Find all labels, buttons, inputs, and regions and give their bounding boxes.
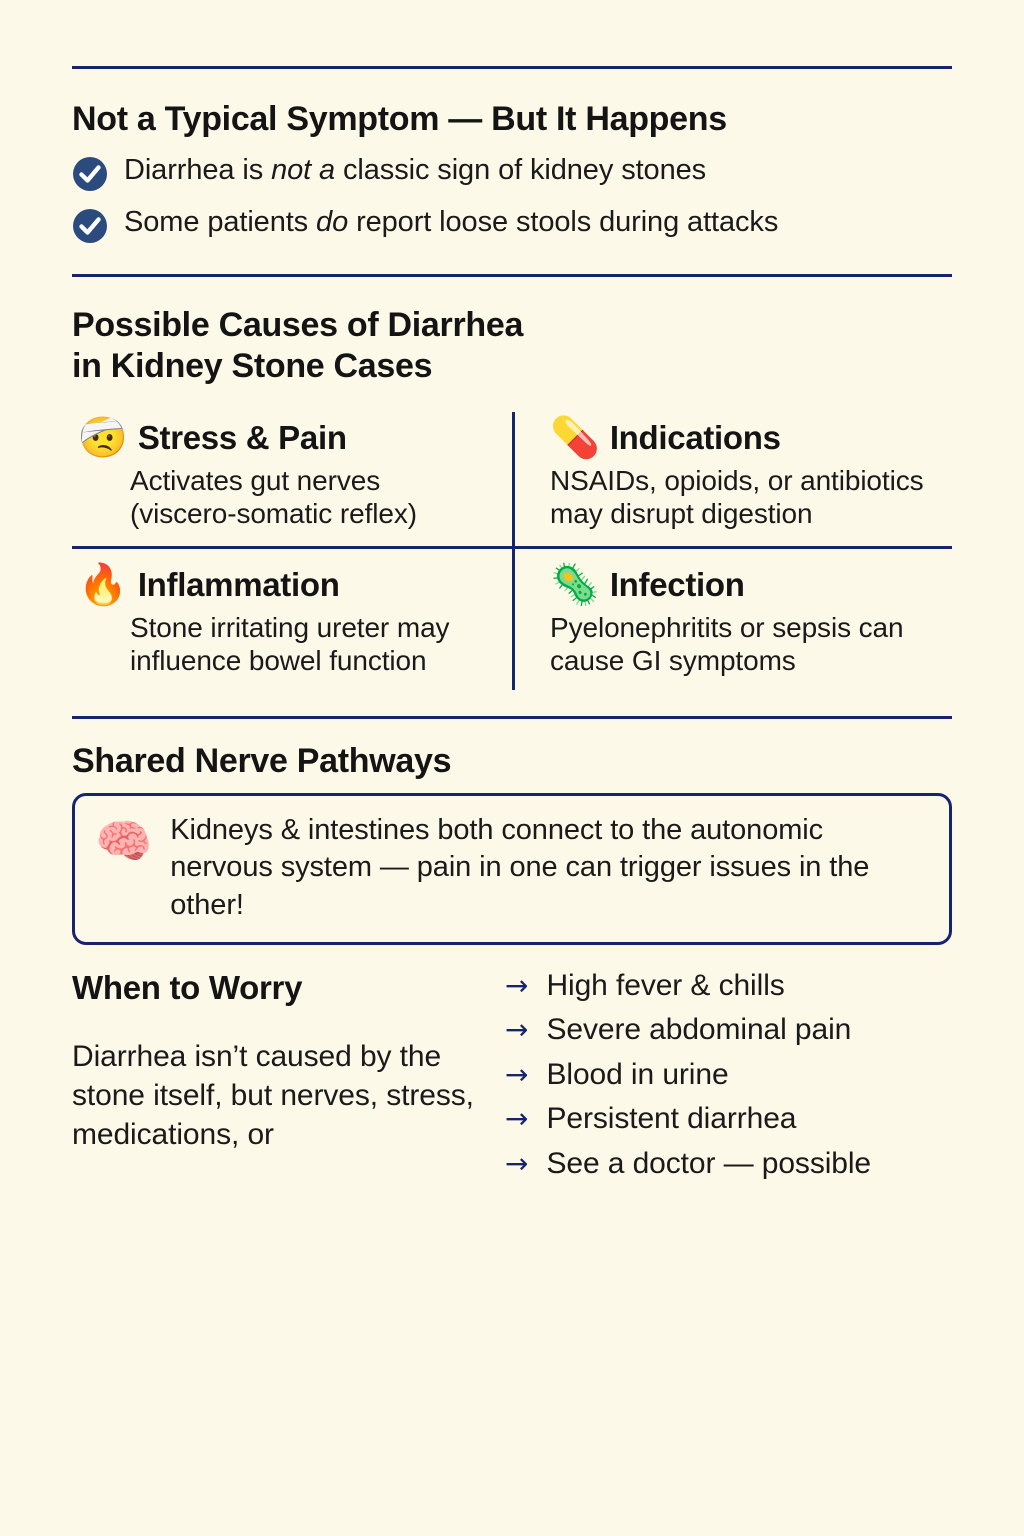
section-heading-when-to-worry: When to Worry bbox=[72, 969, 487, 1007]
cause-header: 🤕 Stress & Pain bbox=[78, 418, 494, 458]
when-to-worry-section: When to Worry Diarrhea isn’t caused by t… bbox=[72, 969, 952, 1192]
divider-top bbox=[72, 66, 952, 69]
check-text-emphasis: do bbox=[316, 206, 348, 238]
arrow-right-icon: → bbox=[505, 1150, 528, 1178]
cause-body: Activates gut nerves (viscero-somatic re… bbox=[130, 464, 494, 530]
worry-paragraph: Diarrhea isn’t caused by the stone itsel… bbox=[72, 1037, 487, 1154]
cause-header: 💊 Indications bbox=[550, 418, 952, 458]
cause-cell-indications: 💊 Indications NSAIDs, opioids, or antibi… bbox=[512, 406, 952, 546]
list-item: → Persistent diarrhea bbox=[505, 1102, 952, 1136]
divider-causes bbox=[72, 274, 952, 277]
warning-signs-list: → High fever & chills → Severe abdominal… bbox=[505, 969, 952, 1192]
cause-body: Pyelonephritits or sepsis can cause GI s… bbox=[550, 611, 952, 677]
check-text-post: report loose stools during attacks bbox=[348, 206, 778, 238]
list-item: → See a doctor — possible bbox=[505, 1147, 952, 1181]
cause-body: NSAIDs, opioids, or antibiotics may disr… bbox=[550, 464, 952, 530]
nerve-callout-box: 🧠 Kidneys & intestines both connect to t… bbox=[72, 793, 952, 944]
check-text-post: classic sign of kidney stones bbox=[335, 154, 706, 186]
list-item: → Severe abdominal pain bbox=[505, 1013, 952, 1047]
warning-text: Severe abdominal pain bbox=[546, 1013, 851, 1047]
cause-title: Stress & Pain bbox=[138, 419, 347, 457]
nerve-callout-text: Kidneys & intestines both connect to the… bbox=[170, 812, 929, 923]
cause-header: 🦠 Infection bbox=[550, 565, 952, 605]
divider-nerves bbox=[72, 716, 952, 719]
arrow-right-icon: → bbox=[505, 1016, 528, 1044]
check-text-emphasis: not a bbox=[271, 154, 335, 186]
causes-grid: 🤕 Stress & Pain Activates gut nerves (vi… bbox=[72, 406, 952, 693]
warning-text: Blood in urine bbox=[546, 1058, 728, 1092]
section-heading-possible-causes: Possible Causes of Diarrheain Kidney Sto… bbox=[72, 305, 952, 387]
cause-cell-infection: 🦠 Infection Pyelonephritits or sepsis ca… bbox=[512, 549, 952, 693]
check-item-text: Some patients do report loose stools dur… bbox=[124, 206, 778, 238]
worry-left-column: When to Worry Diarrhea isn’t caused by t… bbox=[72, 969, 487, 1192]
cause-body: Stone irritating ureter may influence bo… bbox=[130, 611, 494, 677]
warning-text: High fever & chills bbox=[546, 969, 784, 1003]
brain-emoji: 🧠 bbox=[95, 818, 152, 864]
warning-text: Persistent diarrhea bbox=[546, 1102, 796, 1136]
cause-title: Indications bbox=[610, 419, 781, 457]
arrow-right-icon: → bbox=[505, 972, 528, 1000]
symptom-check-list: Diarrhea is not a classic sign of kidney… bbox=[72, 154, 952, 244]
face-with-head-bandage-emoji: 🤕 bbox=[78, 418, 128, 458]
check-circle-icon bbox=[72, 156, 108, 192]
microbe-emoji: 🦠 bbox=[550, 565, 600, 605]
fire-emoji: 🔥 bbox=[78, 565, 128, 605]
arrow-right-icon: → bbox=[505, 1061, 528, 1089]
section-heading-shared-nerve-pathways: Shared Nerve Pathways bbox=[72, 741, 952, 782]
list-item: → Blood in urine bbox=[505, 1058, 952, 1092]
list-item: Diarrhea is not a classic sign of kidney… bbox=[72, 154, 952, 192]
infographic-page: Not a Typical Symptom — But It Happens D… bbox=[0, 0, 1024, 1536]
warning-text: See a doctor — possible bbox=[546, 1147, 871, 1181]
list-item: → High fever & chills bbox=[505, 969, 952, 1003]
cause-title: Inflammation bbox=[138, 566, 340, 604]
section-heading-not-typical: Not a Typical Symptom — But It Happens bbox=[72, 99, 952, 140]
page-title bbox=[98, 0, 925, 34]
check-text-pre: Diarrhea is bbox=[124, 154, 271, 186]
cause-cell-inflammation: 🔥 Inflammation Stone irritating ureter m… bbox=[72, 549, 512, 693]
cause-header: 🔥 Inflammation bbox=[78, 565, 494, 605]
cause-cell-stress-pain: 🤕 Stress & Pain Activates gut nerves (vi… bbox=[72, 406, 512, 546]
check-text-pre: Some patients bbox=[124, 206, 316, 238]
list-item: Some patients do report loose stools dur… bbox=[72, 206, 952, 244]
check-circle-icon bbox=[72, 208, 108, 244]
arrow-right-icon: → bbox=[505, 1105, 528, 1133]
cause-title: Infection bbox=[610, 566, 745, 604]
pill-emoji: 💊 bbox=[550, 418, 600, 458]
check-item-text: Diarrhea is not a classic sign of kidney… bbox=[124, 154, 706, 186]
